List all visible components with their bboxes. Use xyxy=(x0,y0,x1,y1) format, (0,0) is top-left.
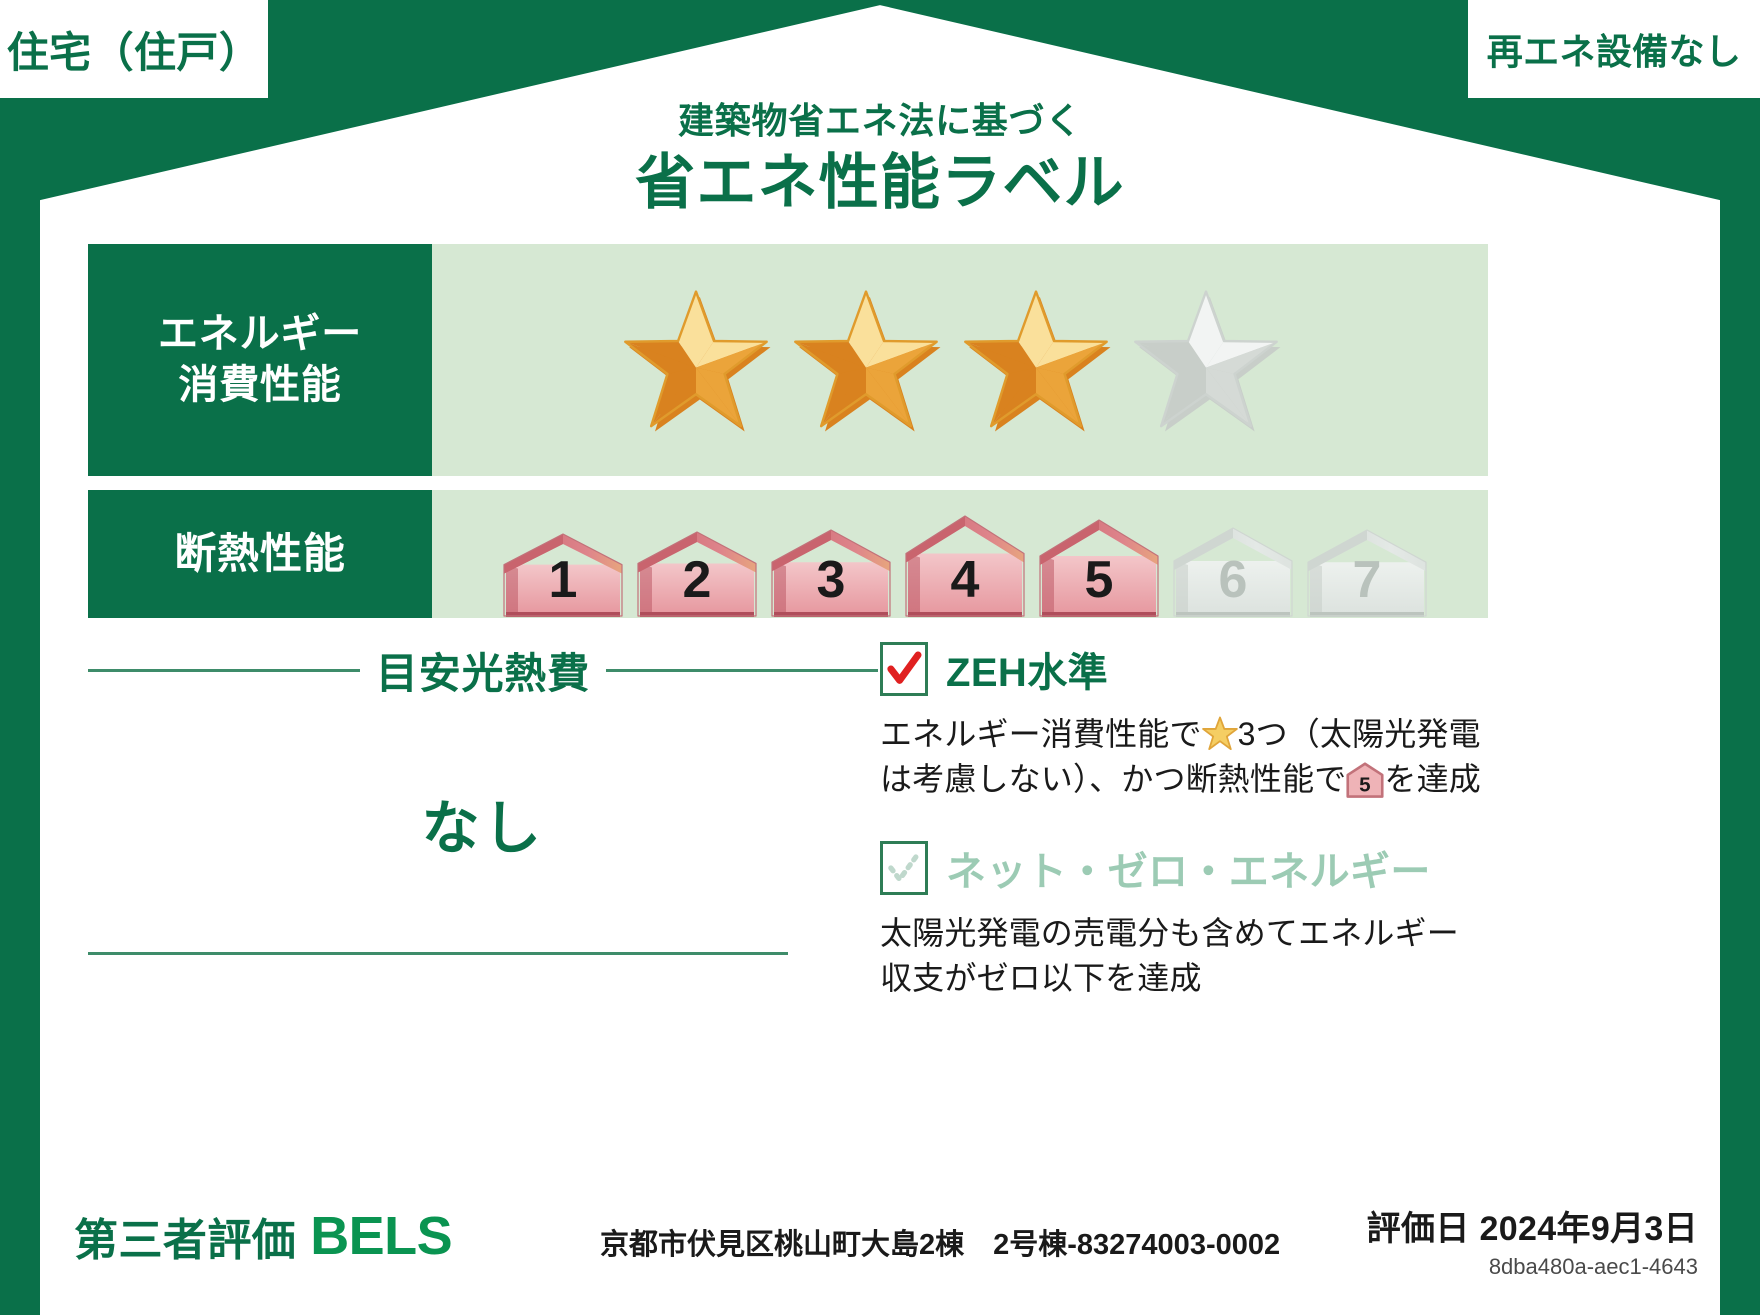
zeh-standard-description: エネルギー消費性能で 3つ（太陽光発電 は考慮しない）、かつ断熱性能で 5 を達… xyxy=(880,712,1520,803)
insulation-level-3: 3 xyxy=(766,528,896,618)
insulation-level-2: 2 xyxy=(632,530,762,618)
energy-performance-label-line1: エネルギー xyxy=(158,309,362,360)
bels-logo: BELS xyxy=(310,1205,452,1267)
footer: 第三者評価 BELS 京都市伏見区桃山町大島2棟 2号棟-83274003-00… xyxy=(40,1175,1720,1315)
energy-performance-label-line2: 消費性能 xyxy=(178,360,341,411)
insulation-performance-label: 断熱性能 xyxy=(88,490,432,618)
insulation-level-scale: 1 xyxy=(498,514,1432,618)
badge-building-type-label: 住宅（住戸） xyxy=(7,19,262,80)
star-rating xyxy=(432,284,1286,436)
zeh-checkbox xyxy=(880,642,928,696)
title-block: 建築物省エネ法に基づく 省エネ性能ラベル xyxy=(0,100,1760,220)
insulation-performance-label-text: 断熱性能 xyxy=(174,527,345,581)
estimated-utility-cost-bottom-rule xyxy=(88,952,788,955)
certificate-id: 8dba480a-aec1-4643 xyxy=(1367,1254,1698,1280)
property-address: 京都市伏見区桃山町大島2棟 2号棟-83274003-0002 xyxy=(600,1221,1280,1263)
third-party-evaluation-label: 第三者評価 xyxy=(74,1204,296,1268)
insulation-level-number: 7 xyxy=(1302,550,1432,610)
inline-insulation-level-icon: 5 xyxy=(1346,762,1384,798)
nze-desc-line2: 収支がゼロ以下を達成 xyxy=(880,960,1202,996)
insulation-level-6: 6 xyxy=(1168,526,1298,618)
insulation-level-4: 4 xyxy=(900,514,1030,618)
insulation-level-number: 5 xyxy=(1034,550,1164,610)
insulation-level-1: 1 xyxy=(498,532,628,618)
net-zero-energy-row: ネット・ゼロ・エネルギー xyxy=(880,839,1520,897)
energy-performance-label: エネルギー 消費性能 xyxy=(88,244,432,476)
title-subtitle: 建築物省エネ法に基づく xyxy=(0,100,1760,141)
insulation-performance-row: 断熱性能 xyxy=(88,490,1488,618)
insulation-level-5: 5 xyxy=(1034,518,1164,618)
star-empty-icon xyxy=(1126,284,1286,436)
net-zero-energy-title: ネット・ゼロ・エネルギー xyxy=(946,839,1431,897)
estimated-utility-cost-header: 目安光熱費 xyxy=(88,640,878,701)
insulation-level-number: 6 xyxy=(1168,550,1298,610)
star-filled-icon xyxy=(616,284,776,436)
insulation-level-number: 1 xyxy=(498,550,628,610)
header-rule-left xyxy=(88,669,360,672)
bels-badge: 第三者評価 BELS xyxy=(58,1193,558,1279)
nze-desc-line1: 太陽光発電の売電分も含めてエネルギー xyxy=(880,915,1459,951)
star-filled-icon xyxy=(956,284,1116,436)
svg-text:5: 5 xyxy=(1360,774,1372,797)
zeh-standard-row: ZEH水準 xyxy=(880,640,1520,698)
insulation-level-7: 7 xyxy=(1302,528,1432,618)
energy-performance-body xyxy=(432,244,1488,476)
bels-energy-label: 住宅（住戸） 再エネ設備なし 建築物省エネ法に基づく 省エネ性能ラベル エネルギ… xyxy=(0,0,1760,1315)
net-zero-energy-block: ネット・ゼロ・エネルギー 太陽光発電の売電分も含めてエネルギー 収支がゼロ以下を… xyxy=(880,839,1520,1002)
zeh-standard-title: ZEH水準 xyxy=(946,640,1108,698)
estimated-utility-cost-panel: 目安光熱費 なし xyxy=(88,640,878,980)
insulation-level-number: 2 xyxy=(632,550,762,610)
evaluation-date-block: 評価日 2024年9月3日 8dba480a-aec1-4643 xyxy=(1367,1201,1698,1280)
badge-renewable-equipment-label: 再エネ設備なし xyxy=(1487,23,1742,75)
badge-building-type: 住宅（住戸） xyxy=(0,0,268,98)
insulation-performance-body: 1 xyxy=(432,490,1488,618)
net-zero-checkbox xyxy=(880,841,928,895)
inline-star-icon xyxy=(1202,716,1238,750)
zeh-desc-part3: は考慮しない）、かつ断熱性能で xyxy=(880,761,1346,797)
zeh-criteria-panel: ZEH水準 エネルギー消費性能で 3つ（太陽光発電 は考慮しない）、かつ断熱性能… xyxy=(880,640,1520,1002)
zeh-desc-part2: 3つ（太陽光発電 xyxy=(1238,716,1481,752)
net-zero-energy-description: 太陽光発電の売電分も含めてエネルギー 収支がゼロ以下を達成 xyxy=(880,911,1520,1002)
zeh-desc-part4: を達成 xyxy=(1384,761,1480,797)
zeh-desc-part1: エネルギー消費性能で xyxy=(880,716,1202,752)
evaluation-date: 評価日 2024年9月3日 xyxy=(1367,1201,1698,1250)
badge-renewable-equipment: 再エネ設備なし xyxy=(1468,0,1760,98)
energy-performance-row: エネルギー 消費性能 xyxy=(88,244,1488,476)
star-filled-icon xyxy=(786,284,946,436)
insulation-level-number: 4 xyxy=(900,550,1030,610)
estimated-utility-cost-value: なし xyxy=(88,781,878,865)
header-rule-right xyxy=(606,669,878,672)
title-main: 省エネ性能ラベル xyxy=(0,145,1760,220)
insulation-level-number: 3 xyxy=(766,550,896,610)
estimated-utility-cost-title: 目安光熱費 xyxy=(376,640,590,701)
